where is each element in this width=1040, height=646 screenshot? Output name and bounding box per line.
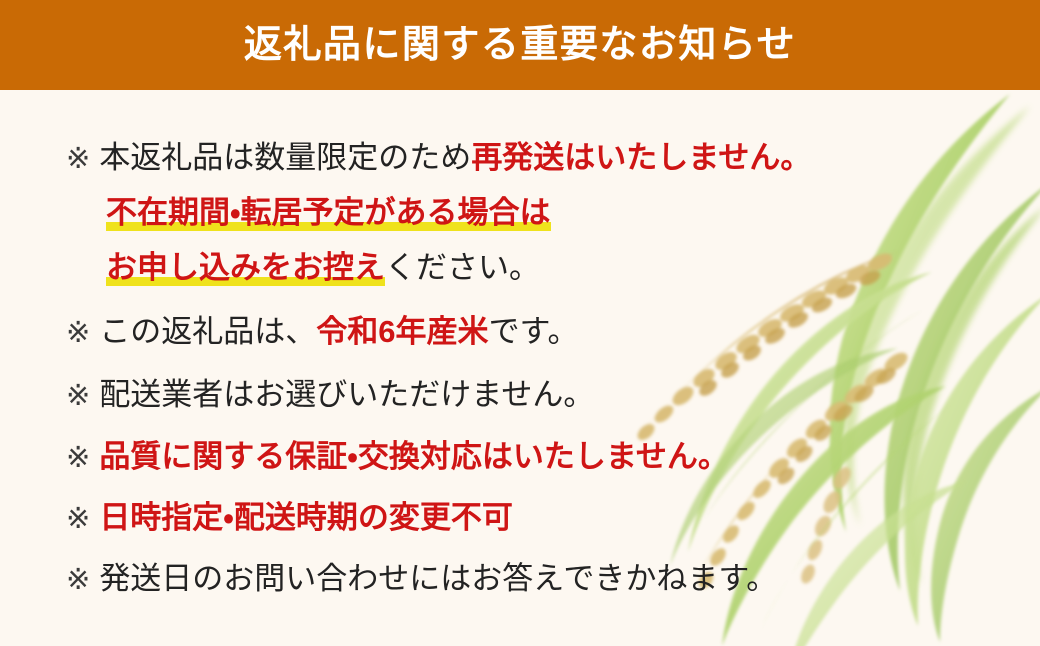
notice-text-segment: 本返礼品は数量限定のため: [99, 140, 471, 175]
notice-text-segment: ください。: [385, 250, 540, 285]
notice-line: ※この返礼品は、令和6年産米です。: [66, 316, 578, 348]
notice-text-segment: 不在期間・転居予定がある場合は: [106, 195, 551, 231]
notice-line: 不在期間・転居予定がある場合は: [106, 197, 551, 228]
bullet-mark-icon: ※: [66, 382, 90, 411]
notice-line: お申し込みをお控えください。: [106, 252, 540, 283]
notice-line: ※品質に関する保証・交換対応はいたしません。: [66, 441, 729, 473]
bullet-mark-icon: ※: [66, 319, 90, 348]
notice-line: ※日時指定・配送時期の変更不可: [66, 502, 513, 534]
notice-list: ※本返礼品は数量限定のため再発送はいたしません。不在期間・転居予定がある場合はお…: [0, 90, 1040, 646]
notice-text-segment: この返礼品は、: [99, 314, 316, 349]
bullet-mark-icon: ※: [66, 444, 90, 473]
notice-text-segment: 配送業者はお選びいただけません。: [99, 377, 594, 412]
notice-text-segment: 日時指定・配送時期の変更不可: [99, 500, 513, 535]
notice-banner: 返礼品に関する重要なお知らせ ※本返礼品は数量限定のため再発送はいたしません。不…: [0, 0, 1040, 646]
notice-text-segment: 発送日のお問い合わせにはお答えできかねます。: [99, 561, 777, 596]
notice-text-segment: です。: [489, 314, 579, 349]
notice-text-segment: お申し込みをお控え: [106, 250, 385, 286]
page-title: 返礼品に関する重要なお知らせ: [244, 26, 796, 64]
notice-text-segment: 再発送はいたしません。: [471, 140, 811, 175]
notice-line: ※配送業者はお選びいただけません。: [66, 379, 594, 411]
notice-line: ※発送日のお問い合わせにはお答えできかねます。: [66, 563, 777, 595]
notice-line: ※本返礼品は数量限定のため再発送はいたしません。: [66, 142, 811, 174]
notice-text-segment: 品質に関する保証・交換対応はいたしません。: [99, 439, 729, 474]
bullet-mark-icon: ※: [66, 145, 90, 174]
bullet-mark-icon: ※: [66, 566, 90, 595]
header-bar: 返礼品に関する重要なお知らせ: [0, 0, 1040, 90]
bullet-mark-icon: ※: [66, 505, 90, 534]
notice-text-segment: 令和6年産米: [316, 314, 488, 349]
